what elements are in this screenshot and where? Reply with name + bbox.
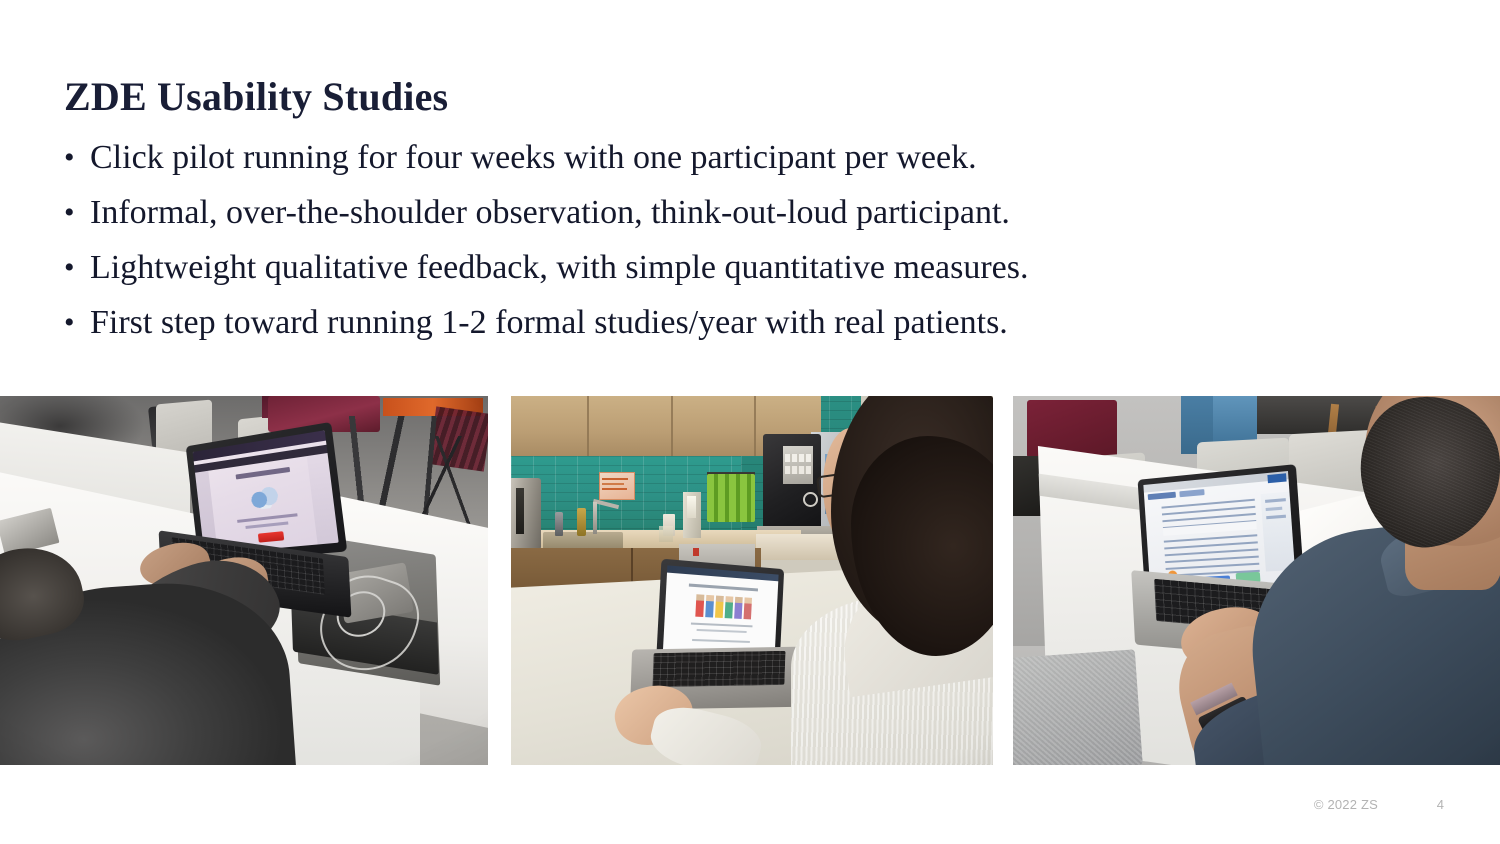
bullet-marker-icon: • [64, 130, 90, 185]
bullet-text: Informal, over-the-shoulder observation,… [90, 194, 1010, 231]
photo-strip [0, 396, 1500, 765]
page-number: 4 [1437, 797, 1444, 812]
photo-participant-dark-sweater-laptop [0, 396, 488, 765]
bullet-marker-icon: • [64, 185, 90, 240]
bullet-list: •Click pilot running for four weeks with… [64, 130, 1384, 350]
photo-3-scene [1013, 396, 1500, 765]
slide-footer: © 2022 ZS 4 [0, 797, 1500, 821]
list-item: •Click pilot running for four weeks with… [64, 130, 1384, 185]
page-title: ZDE Usability Studies [64, 75, 448, 119]
photo-participant-office-kitchen-laptop [511, 396, 993, 765]
list-item: •Lightweight qualitative feedback, with … [64, 240, 1384, 295]
bullet-text: First step toward running 1-2 formal stu… [90, 304, 1008, 341]
photo-1-scene [0, 396, 488, 765]
bullet-text: Click pilot running for four weeks with … [90, 139, 977, 176]
bullet-text: Lightweight qualitative feedback, with s… [90, 249, 1029, 286]
photo-2-scene [511, 396, 993, 765]
bullet-marker-icon: • [64, 240, 90, 295]
list-item: •Informal, over-the-shoulder observation… [64, 185, 1384, 240]
list-item: •First step toward running 1-2 formal st… [64, 295, 1384, 350]
photo-participant-blue-shirt-laptop [1013, 396, 1500, 765]
copyright-text: © 2022 ZS [1314, 797, 1378, 812]
bullet-marker-icon: • [64, 295, 90, 350]
slide: ZDE Usability Studies •Click pilot runni… [0, 0, 1500, 844]
